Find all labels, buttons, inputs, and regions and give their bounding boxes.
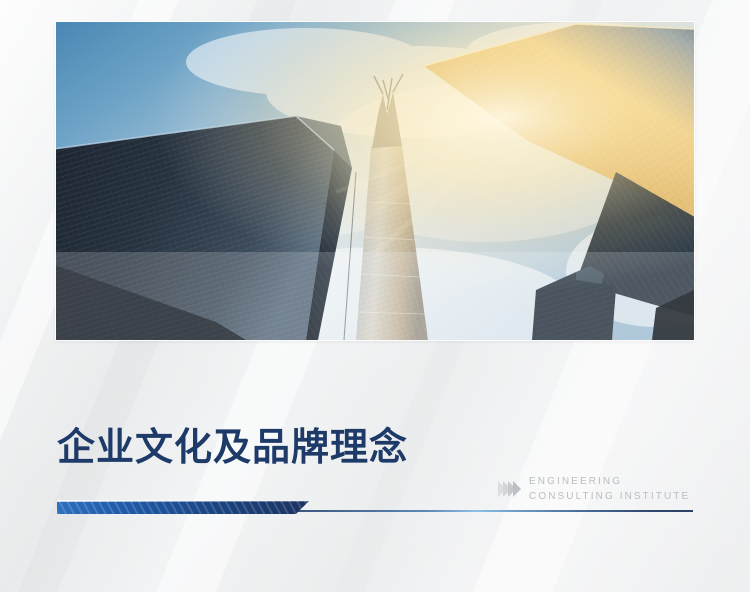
decorative-divider bbox=[57, 500, 693, 516]
chevron-arrows-icon bbox=[498, 479, 518, 499]
slide-canvas: 企业文化及品牌理念 ENGINEERING CONSULTING INSTITU… bbox=[0, 0, 750, 592]
skyscrapers-photo bbox=[56, 22, 694, 340]
divider-accent-bar-highlight bbox=[57, 500, 309, 502]
chevron-right-icon bbox=[513, 481, 521, 497]
page-title: 企业文化及品牌理念 bbox=[57, 424, 408, 470]
hero-image bbox=[56, 22, 694, 340]
brand-line-1: ENGINEERING bbox=[529, 474, 690, 489]
divider-accent-bar bbox=[57, 501, 309, 514]
